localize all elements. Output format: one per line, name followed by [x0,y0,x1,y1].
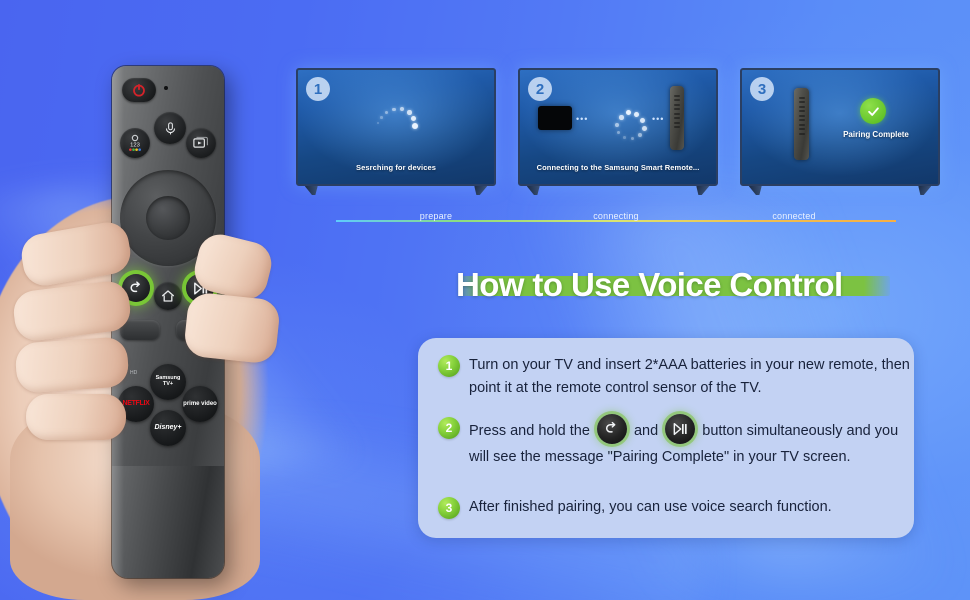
infographic-root: 123 [0,0,970,600]
multiview-icon [192,134,210,152]
hd-marking: HD [130,370,137,376]
home-button[interactable] [154,282,182,310]
instruction-step-2: 2 Press and hold the and [438,416,914,469]
tv-device-box [538,106,572,130]
step-badge-2: 2 [438,417,460,439]
microphone-icon [163,121,178,136]
signal-dots-left: ••• [576,114,588,124]
instruction-step-3: 3 After finished pairing, you can use vo… [438,496,832,519]
tv-legs-1 [296,186,496,196]
app-button-netflix-label: NETFLIX [122,400,149,407]
tv-screen-3: 3 Pairing Complete [740,68,940,186]
volume-rocker[interactable] [120,320,160,340]
step-text-1: Turn on your TV and insert 2*AAA batteri… [469,354,914,400]
tv-screen-1: 1 Sesrching for devices [296,68,496,186]
tv-badge-2: 2 [528,77,552,101]
power-button[interactable] [122,78,156,102]
svg-text:123: 123 [130,142,140,148]
check-icon [866,104,881,119]
tv-legs-2 [518,186,718,196]
finger-pinky [26,394,126,440]
step-text-3: After finished pairing, you can use voic… [469,496,832,519]
page-title: How to Use Voice Control [456,262,843,308]
tv-panel-step-2: 2 ••• ••• [518,68,718,196]
play-pause-icon [672,421,689,438]
ir-sensor-dot [164,86,168,90]
thumb-lower [183,291,281,364]
app-button-samsung-tv-plus-label: Samsung TV+ [150,376,186,388]
progress-label-connecting: connecting [589,211,643,221]
tv-panel-step-1: 1 Sesrching for devices [296,68,496,196]
step-badge-1: 1 [438,355,460,377]
multiview-source-button[interactable] [186,128,216,158]
progress-label-prepare: prepare [416,211,456,221]
dpad-select-button[interactable] [146,196,190,240]
tv-screen-2: 2 ••• ••• [518,68,718,186]
title-text: How to Use Voice Control [456,262,843,308]
tv-caption-1: Sesrching for devices [298,163,494,172]
tv-badge-3: 3 [750,77,774,101]
play-pause-button-inline[interactable] [665,414,695,444]
instructions-card: 1 Turn on your TV and insert 2*AAA batte… [418,338,914,538]
step-text-2: Press and hold the and button simultane [469,416,914,469]
step2-text-between: and [634,423,658,439]
tv-panel-step-3: 3 Pairing Complete [740,68,940,196]
searching-spinner [375,104,421,150]
123-colors-icon: 123 [125,133,145,153]
app-button-disney-plus[interactable]: Disney+ [150,410,186,446]
power-icon [131,82,147,98]
tv-caption-3: Pairing Complete [826,130,926,139]
connecting-spinner [608,110,654,156]
tv-caption-2: Connecting to the Samsung Smart Remote..… [520,163,716,172]
app-button-prime-video[interactable]: prime video [182,386,218,422]
app-button-disney-plus-label: Disney+ [154,424,181,431]
tv-legs-3 [740,186,940,196]
tv-badge-1: 1 [306,77,330,101]
progress-label-connected: connected [768,211,819,221]
finger-ring [14,336,129,394]
remote-lower-body [112,466,224,578]
instruction-step-1: 1 Turn on your TV and insert 2*AAA batte… [438,354,914,400]
step-badge-3: 3 [438,497,460,519]
home-icon [160,288,176,304]
mini-remote-illustration-3 [794,88,809,160]
app-button-samsung-tv-plus[interactable]: Samsung TV+ [150,364,186,400]
signal-dots-right: ••• [652,114,664,124]
app-button-prime-video-label: prime video [183,401,217,407]
back-arrow-icon [603,421,620,438]
back-button-inline[interactable] [597,414,627,444]
microphone-button[interactable] [154,112,186,144]
back-arrow-icon [128,280,145,297]
step2-text-before: Press and hold the [469,423,590,439]
pairing-success-check [860,98,886,124]
numbers-color-button[interactable]: 123 [120,128,150,158]
pairing-progress-timeline: prepare connecting connected [336,210,896,232]
mini-remote-illustration-2 [670,86,684,150]
pairing-steps-tv-row: 1 Sesrching for devices 2 [296,68,956,196]
